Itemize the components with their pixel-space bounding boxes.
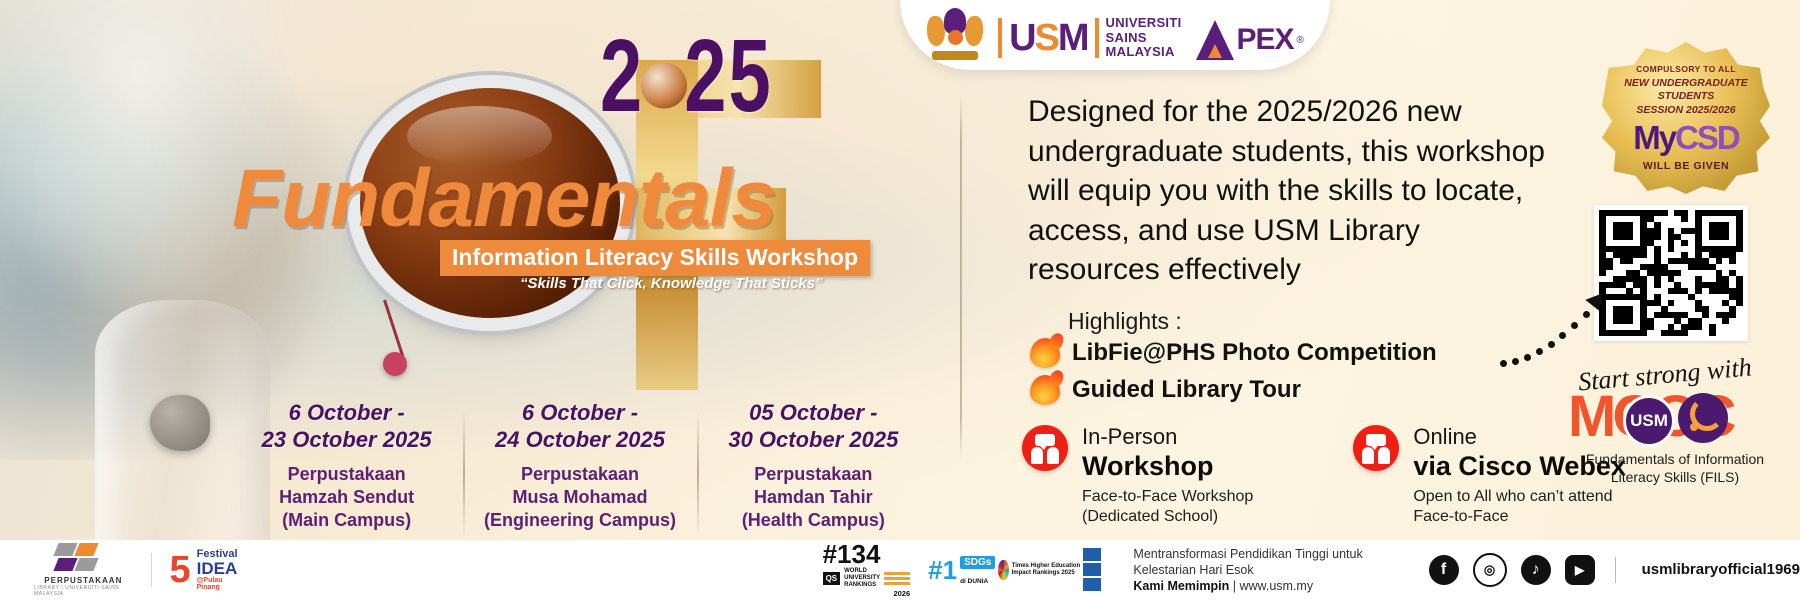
social-divider: [1615, 557, 1616, 583]
festival-idea-logo: 5 Festival IDEA @Pulau Pinang: [169, 549, 237, 592]
library-name: PERPUSTAKAAN: [44, 576, 122, 585]
usm-wordmark: UNIVERSITI SAINS MALAYSIA: [1106, 16, 1182, 60]
usm-bars-icon: [998, 18, 1002, 58]
sdg-ranking: #1 SDGs di DUNIA Times Higher Education …: [928, 548, 1101, 591]
people-chat-icon: [1353, 425, 1399, 471]
qs-ranking: #134 QS WORLD UNIVERSITY RANKINGS 2026: [823, 542, 911, 597]
rankings-group: #134 QS WORLD UNIVERSITY RANKINGS 2026 #…: [823, 542, 1800, 597]
footer-divider: [151, 553, 152, 587]
mode-note: Open to All who can’t attend Face-to-Fac…: [1413, 487, 1626, 528]
mycsd-logo: MyCSD: [1633, 121, 1739, 154]
usm-seal-icon: USM: [1623, 395, 1675, 447]
instagram-icon[interactable]: ◎: [1473, 553, 1507, 587]
date-column-health: 05 October - 30 October 2025 Perpustakaa…: [697, 400, 930, 545]
sdg-label: SDGs: [960, 556, 995, 569]
mycsd-badge: COMPULSORY TO ALL NEW UNDERGRADUATE STUD…: [1602, 42, 1770, 194]
stone-artwork: [150, 395, 210, 451]
lead-paragraph: Designed for the 2025/2026 new undergrad…: [1028, 92, 1548, 290]
mode-title: Workshop: [1082, 450, 1253, 482]
library-subtitle: LIBRARY | UNIVERSITI SAINS MALAYSIA: [34, 585, 133, 597]
highlights-label: Highlights :: [1068, 308, 1182, 335]
date-venue: Perpustakaan Hamzah Sendut (Main Campus): [238, 463, 455, 532]
badge-middle-text: NEW UNDERGRADUATE STUDENTS SESSION 2025/…: [1624, 77, 1747, 116]
youtube-icon[interactable]: ▶: [1565, 555, 1595, 585]
library-mark-icon: [56, 543, 110, 573]
date-columns: 6 October - 23 October 2025 Perpustakaan…: [230, 400, 930, 545]
library-logo: PERPUSTAKAAN LIBRARY | UNIVERSITI SAINS …: [34, 543, 133, 597]
mooc-wordmark: MOOC USM: [1568, 388, 1778, 448]
tagline-line-2: Kami Memimpin | www.usm.my: [1133, 578, 1380, 594]
badge-top-text: COMPULSORY TO ALL: [1636, 64, 1736, 74]
header-logo-plate: USM UNIVERSITI SAINS MALAYSIA PEX ®: [900, 0, 1330, 70]
vertical-divider: [960, 95, 962, 460]
highlights-list: LibFie@PHS Photo Competition Guided Libr…: [1030, 338, 1437, 412]
mooc-caption: Fundamentals of Information Literacy Ski…: [1560, 450, 1790, 486]
year-2025: 225: [600, 18, 773, 135]
apex-registered-icon: ®: [1297, 35, 1304, 46]
usm-letters: USM: [1009, 19, 1087, 57]
badge-bottom-text: WILL BE GIVEN: [1643, 160, 1729, 172]
festival-label-3: @Pulau Pinang: [197, 577, 238, 591]
qs-bars-icon: [884, 572, 910, 585]
social-links: f ◎ ♪ ▶ usmlibraryofficial1969: [1429, 553, 1800, 587]
date-range: 6 October - 23 October 2025: [238, 400, 455, 454]
flame-icon: [1030, 375, 1060, 405]
sdg-rank-number: #1: [928, 558, 957, 583]
apex-logo: PEX ®: [1196, 20, 1304, 60]
sdg-sublabel: di DUNIA: [960, 578, 988, 585]
footer-bar: PERPUSTAKAAN LIBRARY | UNIVERSITI SAINS …: [0, 540, 1800, 600]
apex-triangle-icon: [1196, 20, 1234, 60]
date-range: 6 October - 24 October 2025: [471, 400, 688, 454]
rss-icon: [1678, 393, 1728, 443]
magnifier-dot-icon: [383, 352, 407, 376]
facebook-icon[interactable]: f: [1429, 555, 1459, 585]
qs-rank-number: #134: [823, 542, 911, 567]
qr-grid: [1599, 210, 1743, 336]
qr-code[interactable]: [1594, 205, 1748, 341]
qs-logo: QS: [823, 572, 841, 585]
date-column-main: 6 October - 23 October 2025 Perpustakaan…: [230, 400, 463, 545]
qs-rank-year: 2026: [823, 589, 911, 598]
apex-label: PEX: [1237, 23, 1294, 57]
date-range: 05 October - 30 October 2025: [705, 400, 922, 454]
impact-rankings-label: Times Higher Education Impact Rankings 2…: [1012, 563, 1081, 577]
mode-note: Face-to-Face Workshop (Dedicated School): [1082, 487, 1253, 528]
festival-number: 5: [169, 551, 190, 589]
sdg-wheel-icon: [998, 560, 1008, 580]
delivery-modes: In-Person Workshop Face-to-Face Workshop…: [1022, 425, 1626, 528]
usm-logo: USM UNIVERSITI SAINS MALAYSIA: [998, 16, 1181, 60]
mode-in-person: In-Person Workshop Face-to-Face Workshop…: [1022, 425, 1253, 528]
poster-banner: 225 Fundamentals Information Literacy Sk…: [0, 0, 1800, 600]
date-venue: Perpustakaan Hamdan Tahir (Health Campus…: [705, 463, 922, 532]
tagline-line-1: Mentransformasi Pendidikan Tinggi untuk …: [1133, 546, 1380, 579]
date-venue: Perpustakaan Musa Mohamad (Engineering C…: [471, 463, 688, 532]
list-item: LibFie@PHS Photo Competition: [1030, 338, 1437, 368]
tiktok-icon[interactable]: ♪: [1521, 555, 1551, 585]
flame-icon: [1030, 338, 1060, 368]
zero-ball-icon: [641, 63, 687, 109]
date-column-engineering: 6 October - 24 October 2025 Perpustakaan…: [463, 400, 696, 545]
usm-bars-icon: [1095, 18, 1099, 58]
poster-tagline: “Skills That Click, Knowledge That Stick…: [520, 275, 823, 292]
usm-tagline: Mentransformasi Pendidikan Tinggi untuk …: [1133, 546, 1380, 595]
people-chat-icon: [1022, 425, 1068, 471]
list-item: Guided Library Tour: [1030, 375, 1437, 405]
festival-label-2: IDEA: [197, 560, 238, 577]
mode-kicker: In-Person: [1082, 425, 1253, 449]
un-badges-icon: [1083, 548, 1101, 591]
poster-subtitle: Information Literacy Skills Workshop: [440, 240, 870, 276]
qs-rank-label: WORLD UNIVERSITY RANKINGS: [844, 568, 880, 589]
usm-crest-icon: [926, 4, 984, 60]
social-handle: usmlibraryofficial1969: [1642, 561, 1800, 578]
page-title: Fundamentals: [232, 152, 776, 246]
